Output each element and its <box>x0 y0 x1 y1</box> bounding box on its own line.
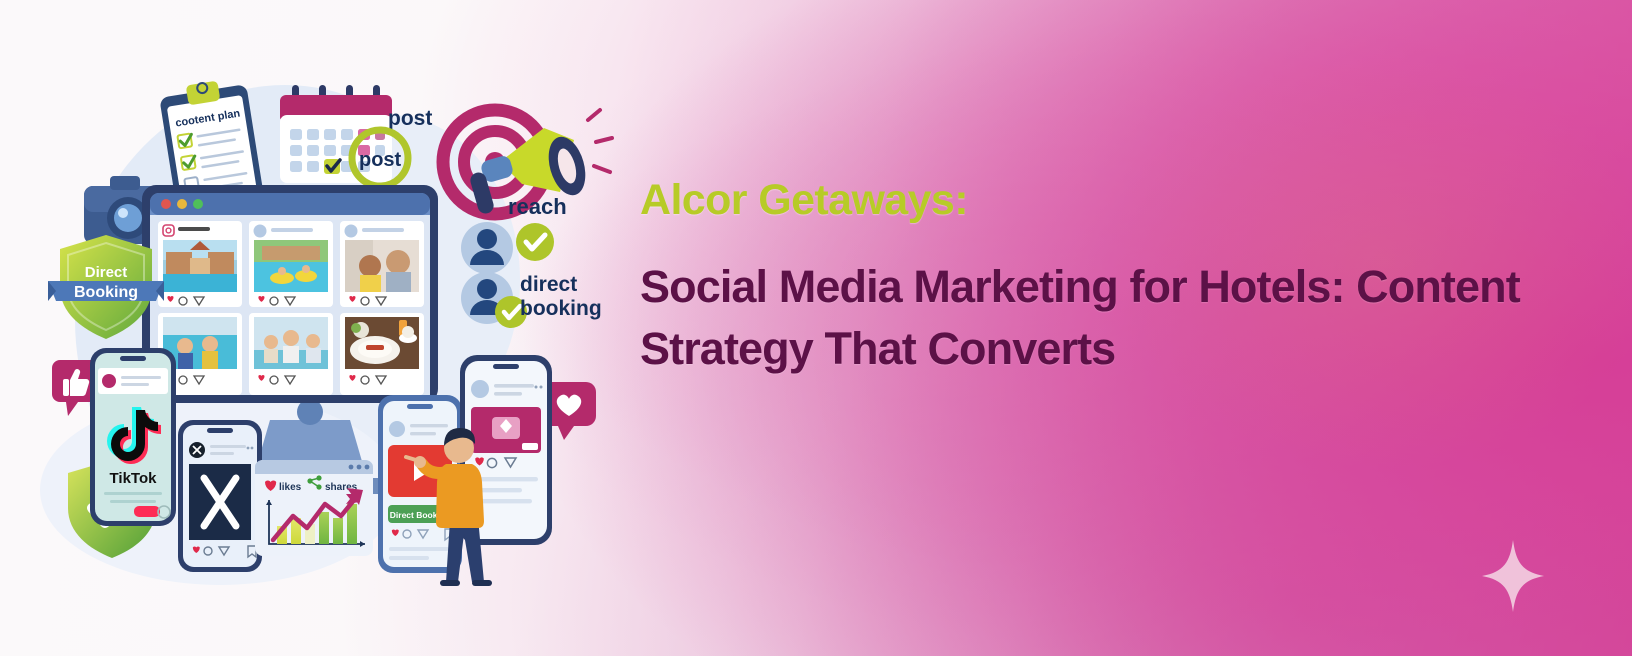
post-card <box>158 221 242 307</box>
post-card <box>340 313 424 395</box>
legend-likes: likes <box>279 482 302 493</box>
post-card <box>249 221 333 307</box>
tiktok-phone: TikTok <box>90 348 176 526</box>
text-block: Alcor Getaways: Social Media Marketing f… <box>640 176 1540 380</box>
tiktok-label: TikTok <box>110 470 158 487</box>
reach-label: reach <box>508 194 567 219</box>
page-title: Social Media Marketing for Hotels: Conte… <box>640 256 1520 380</box>
brand-eyebrow: Alcor Getaways: <box>640 176 1540 224</box>
hero-illustration: cootent plan <box>30 20 650 620</box>
direct-booking-label-line1: direct <box>520 273 577 296</box>
direct-booking-label-line2: booking <box>520 297 602 320</box>
post-card <box>249 313 333 395</box>
engagement-stats-card: likes shares <box>255 460 373 556</box>
shield-line-2: Booking <box>74 284 138 301</box>
sparkle-star-icon <box>1482 540 1544 612</box>
window-dot-minimize <box>177 199 187 209</box>
post-card <box>340 221 424 307</box>
promo-banner: cootent plan <box>0 0 1632 656</box>
calendar-post-label-badge: post <box>359 149 402 171</box>
shield-line-1: Direct <box>85 264 128 281</box>
window-dot-maximize <box>193 199 203 209</box>
window-dot-close <box>161 199 171 209</box>
calendar-post-label-outer: post <box>388 107 432 130</box>
x-phone <box>178 420 262 572</box>
